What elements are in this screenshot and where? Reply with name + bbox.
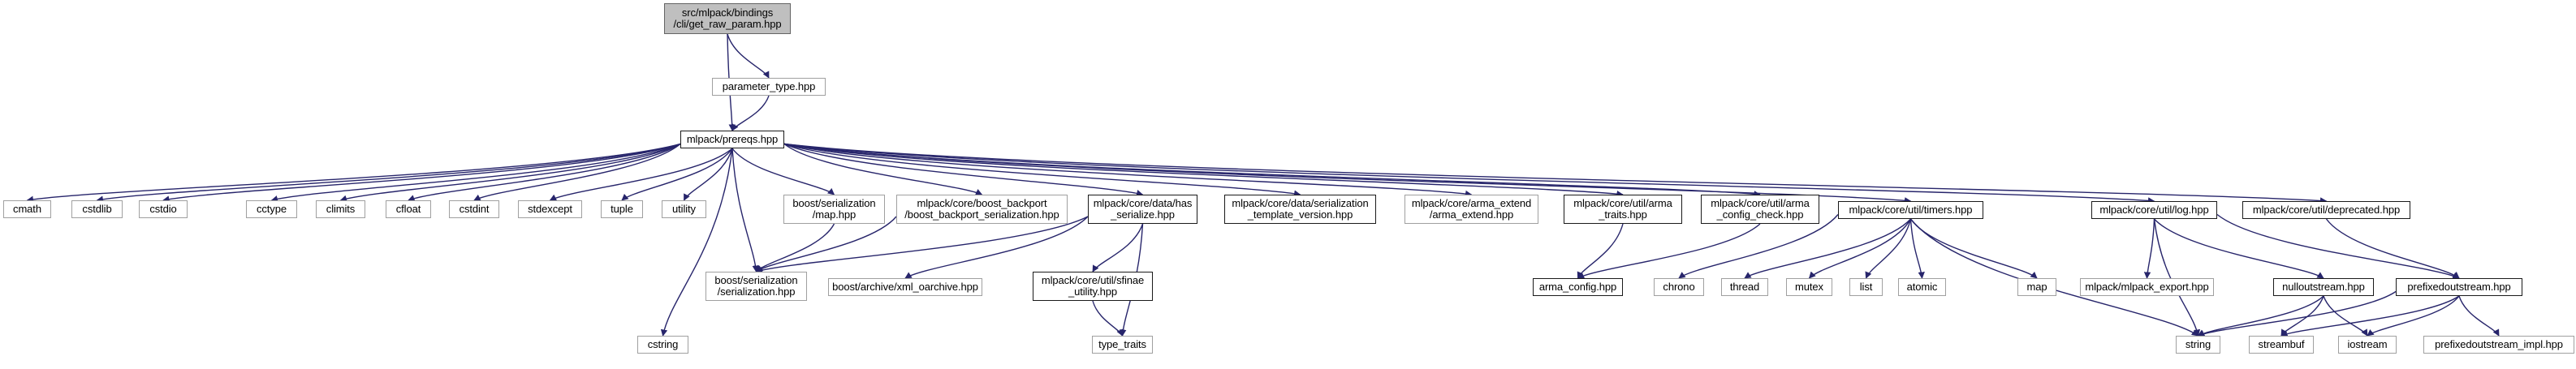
graph-node-iostream[interactable]: iostream	[2338, 336, 2397, 354]
edge-prereqs-to-has_serialize	[784, 144, 1143, 195]
edge-prereqs-to-cstdint	[474, 144, 680, 201]
edge-prefixedoutstream-to-prefixed_impl	[2459, 296, 2499, 336]
edge-has_serialize-to-xml_oarchive	[905, 217, 1088, 278]
graph-node-utility[interactable]: utility	[662, 200, 706, 218]
edge-prefixedoutstream-to-iostream	[2367, 296, 2459, 336]
graph-node-log[interactable]: mlpack/core/util/log.hpp	[2091, 201, 2217, 219]
graph-node-climits[interactable]: climits	[316, 200, 365, 218]
graph-node-sfinae_utility[interactable]: mlpack/core/util/sfinae _utility.hpp	[1033, 272, 1153, 301]
graph-node-cstdio[interactable]: cstdio	[139, 200, 188, 218]
edge-log-to-string	[2155, 219, 2198, 336]
edge-prefixedoutstream-to-streambuf	[2281, 296, 2459, 336]
edge-prereqs-to-deprecated	[784, 144, 2327, 202]
edge-nulloutstream-to-streambuf	[2281, 296, 2324, 336]
edge-timers-to-list	[1866, 219, 1911, 278]
edge-nulloutstream-to-iostream	[2324, 296, 2367, 336]
include-dependency-graph: src/mlpack/bindings /cli/get_raw_param.h…	[0, 0, 2576, 369]
edge-timers-to-atomic	[1911, 219, 1922, 278]
edge-boost_ser_map-to-boost_ser_ser	[757, 224, 835, 272]
graph-node-cctype[interactable]: cctype	[246, 200, 297, 218]
edge-prereqs-to-cstdlib	[97, 144, 681, 201]
edge-log-to-prefixedoutstream	[2217, 215, 2459, 279]
edge-prereqs-to-boost_backport	[784, 144, 982, 195]
edge-prefixedoutstream-to-string	[2198, 292, 2397, 337]
edge-prereqs-to-stdexcept	[550, 148, 733, 200]
graph-node-parameter_type[interactable]: parameter_type.hpp	[712, 78, 826, 96]
edge-prereqs-to-cstring	[663, 148, 733, 336]
edge-prereqs-to-boost_ser_ser	[732, 148, 757, 272]
edge-log-to-nulloutstream	[2155, 219, 2324, 278]
edge-prereqs-to-ser_template_ver	[784, 144, 1301, 195]
edge-timers-to-mutex	[1810, 219, 1911, 278]
graph-node-mlpack_export[interactable]: mlpack/mlpack_export.hpp	[2080, 278, 2214, 296]
edge-timers-to-thread	[1745, 219, 1911, 278]
edge-prereqs-to-arma_traits	[784, 144, 1623, 195]
graph-node-list[interactable]: list	[1849, 278, 1883, 296]
edge-timers-to-map	[1911, 219, 2038, 278]
edge-prereqs-to-log	[784, 144, 2155, 202]
edge-prereqs-to-arma_extend	[784, 144, 1472, 195]
edge-has_serialize-to-sfinae_utility	[1093, 224, 1143, 272]
edge-root-to-parameter_type	[727, 34, 769, 78]
graph-node-ser_template_ver[interactable]: mlpack/core/data/serialization _template…	[1224, 195, 1376, 224]
graph-node-thread[interactable]: thread	[1721, 278, 1768, 296]
graph-node-boost_ser_map[interactable]: boost/serialization /map.hpp	[783, 195, 885, 224]
edge-log-to-mlpack_export	[2147, 219, 2155, 278]
edge-prereqs-to-tuple	[622, 148, 732, 200]
graph-node-boost_backport[interactable]: mlpack/core/boost_backport /boost_backpo…	[896, 195, 1068, 224]
graph-node-streambuf[interactable]: streambuf	[2249, 336, 2314, 354]
edge-arma_traits-to-arma_config	[1578, 224, 1624, 278]
graph-node-arma_config_check[interactable]: mlpack/core/util/arma _config_check.hpp	[1701, 195, 1819, 224]
graph-node-arma_config[interactable]: arma_config.hpp	[1533, 278, 1623, 296]
edge-timers-to-chrono	[1679, 215, 1838, 279]
graph-node-arma_extend[interactable]: mlpack/core/arma_extend /arma_extend.hpp	[1405, 195, 1538, 224]
edge-has_serialize-to-boost_ser_ser	[757, 217, 1089, 272]
graph-node-boost_ser_ser[interactable]: boost/serialization /serialization.hpp	[705, 272, 807, 301]
graph-node-cmath[interactable]: cmath	[3, 200, 51, 218]
edge-prereqs-to-utility	[684, 148, 733, 200]
graph-node-deprecated[interactable]: mlpack/core/util/deprecated.hpp	[2242, 201, 2410, 219]
graph-node-cfloat[interactable]: cfloat	[386, 200, 431, 218]
edge-parameter_type-to-prereqs	[732, 96, 769, 131]
graph-node-cstring[interactable]: cstring	[637, 336, 688, 354]
graph-node-map[interactable]: map	[2017, 278, 2056, 296]
graph-node-xml_oarchive[interactable]: boost/archive/xml_oarchive.hpp	[828, 278, 982, 296]
edge-prereqs-to-cfloat	[408, 144, 680, 201]
edge-timers-to-string	[1911, 219, 2198, 336]
edge-prereqs-to-cstdio	[163, 144, 680, 201]
graph-node-string[interactable]: string	[2176, 336, 2220, 354]
edge-nulloutstream-to-string	[2198, 296, 2324, 336]
edge-boost_backport-to-boost_ser_ser	[757, 217, 897, 272]
edge-deprecated-to-prefixedoutstream	[2327, 219, 2460, 278]
edge-prereqs-to-cctype	[272, 144, 681, 201]
graph-node-arma_traits[interactable]: mlpack/core/util/arma _traits.hpp	[1564, 195, 1682, 224]
graph-node-prefixedoutstream[interactable]: prefixedoutstream.hpp	[2396, 278, 2522, 296]
edge-arma_config_check-to-arma_config	[1578, 224, 1761, 278]
edge-prereqs-to-boost_ser_map	[732, 148, 835, 195]
graph-node-prefixed_impl[interactable]: prefixedoutstream_impl.hpp	[2423, 336, 2574, 354]
graph-node-cstdlib[interactable]: cstdlib	[71, 200, 123, 218]
graph-node-root: src/mlpack/bindings /cli/get_raw_param.h…	[664, 3, 791, 34]
edge-prereqs-to-timers	[784, 144, 1911, 202]
graph-node-atomic[interactable]: atomic	[1898, 278, 1946, 296]
graph-node-mutex[interactable]: mutex	[1786, 278, 1832, 296]
graph-node-timers[interactable]: mlpack/core/util/timers.hpp	[1838, 201, 1983, 219]
graph-node-prereqs[interactable]: mlpack/prereqs.hpp	[680, 131, 784, 148]
graph-node-cstdint[interactable]: cstdint	[449, 200, 499, 218]
edge-prereqs-to-arma_config_check	[784, 144, 1760, 195]
edge-sfinae_utility-to-type_traits	[1093, 301, 1123, 336]
graph-node-nulloutstream[interactable]: nulloutstream.hpp	[2273, 278, 2374, 296]
edge-prereqs-to-climits	[341, 144, 681, 201]
graph-node-stdexcept[interactable]: stdexcept	[518, 200, 582, 218]
graph-node-chrono[interactable]: chrono	[1654, 278, 1704, 296]
graph-node-tuple[interactable]: tuple	[601, 200, 643, 218]
graph-node-type_traits[interactable]: type_traits	[1092, 336, 1153, 354]
edge-prereqs-to-cmath	[28, 144, 681, 201]
graph-node-has_serialize[interactable]: mlpack/core/data/has _serialize.hpp	[1088, 195, 1197, 224]
edge-layer	[0, 0, 2576, 369]
